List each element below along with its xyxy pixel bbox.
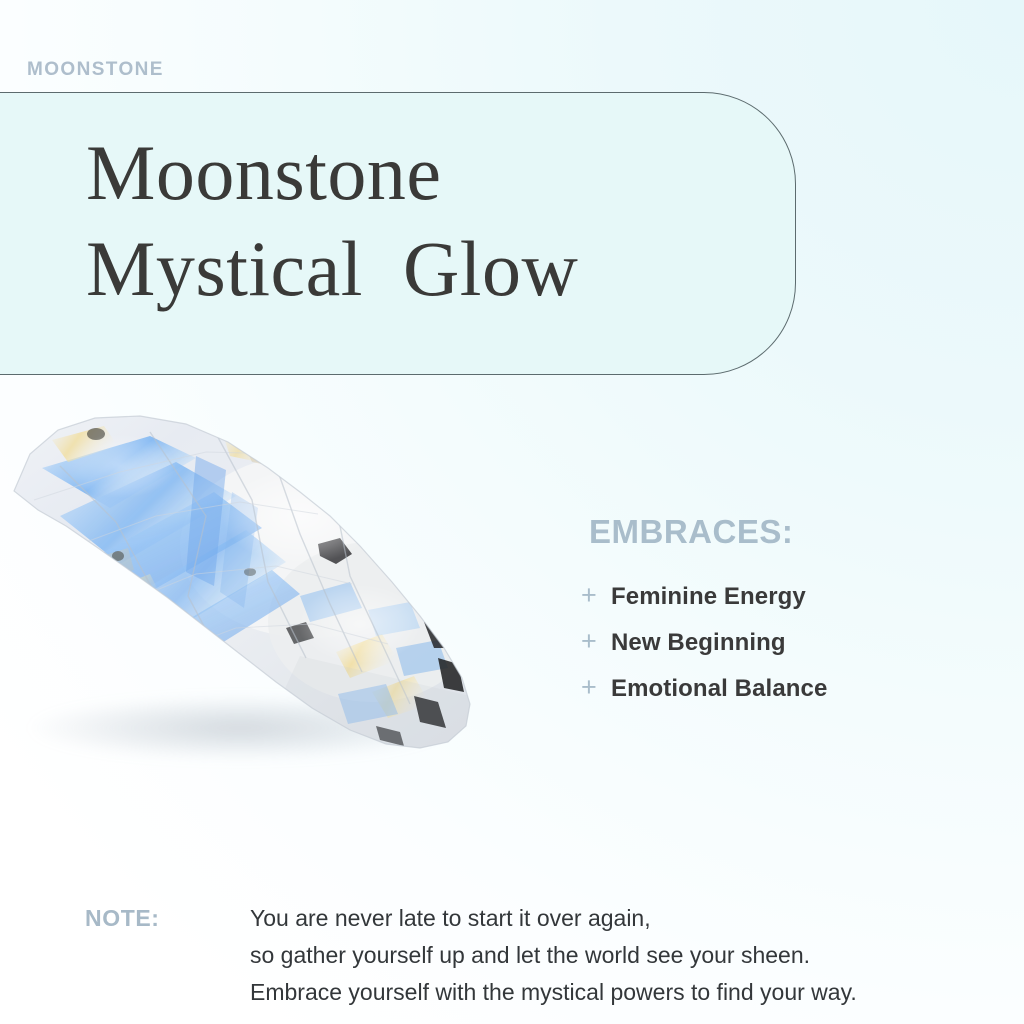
embraces-heading: EMBRACES: — [589, 512, 1009, 552]
plus-icon: + — [581, 672, 611, 702]
moonstone-crystal-icon — [0, 396, 520, 786]
embraces-section: EMBRACES: + Feminine Energy + New Beginn… — [589, 512, 1009, 718]
moonstone-image — [0, 396, 520, 786]
poster-canvas: MOONSTONE Moonstone Mystical Glow — [0, 0, 1024, 1024]
list-item: + Emotional Balance — [581, 672, 1009, 704]
note-line: You are never late to start it over agai… — [250, 900, 1004, 937]
page-title-line-2: Mystical Glow — [86, 221, 765, 317]
plus-icon: + — [581, 626, 611, 656]
embrace-item-label: Emotional Balance — [611, 674, 827, 704]
title-block: Moonstone Mystical Glow — [86, 125, 765, 317]
page-title-line-1: Moonstone — [86, 125, 765, 221]
list-item: + Feminine Energy — [581, 580, 1009, 612]
note-line: Embrace yourself with the mystical power… — [250, 974, 1004, 1011]
embraces-list: + Feminine Energy + New Beginning + Emot… — [581, 580, 1009, 704]
note-line: so gather yourself up and let the world … — [250, 937, 1004, 974]
plus-icon: + — [581, 580, 611, 610]
embrace-item-label: Feminine Energy — [611, 582, 806, 612]
note-body: You are never late to start it over agai… — [250, 900, 1004, 1011]
list-item: + New Beginning — [581, 626, 1009, 658]
eyebrow-label: MOONSTONE — [27, 57, 164, 83]
note-label: NOTE: — [85, 900, 250, 937]
title-card: Moonstone Mystical Glow — [0, 92, 796, 375]
note-section: NOTE: You are never late to start it ove… — [85, 900, 1004, 1011]
embrace-item-label: New Beginning — [611, 628, 786, 658]
